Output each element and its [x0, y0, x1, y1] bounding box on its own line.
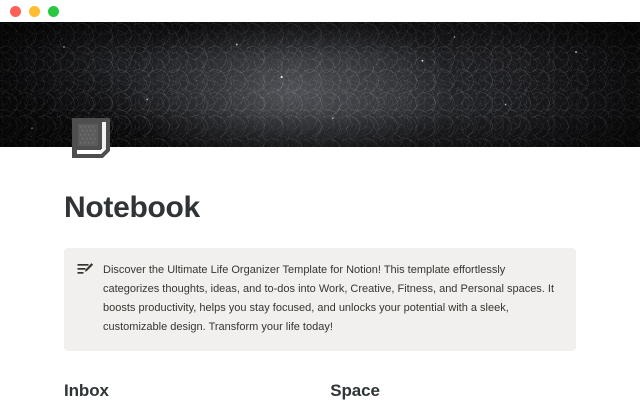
callout-block[interactable]: Discover the Ultimate Life Organizer Tem…	[64, 248, 576, 351]
minimize-button[interactable]	[29, 6, 40, 17]
callout-text: Discover the Ultimate Life Organizer Tem…	[103, 261, 562, 337]
column-inbox: Inbox Notes	[64, 381, 310, 400]
column-list: Inbox Notes Space	[64, 381, 576, 400]
inbox-heading[interactable]: Inbox	[64, 381, 310, 400]
window-titlebar	[0, 0, 640, 22]
space-heading[interactable]: Space	[330, 381, 576, 400]
app-window: Notebook Discover the Ultimate Life Orga…	[0, 0, 640, 400]
maximize-button[interactable]	[48, 6, 59, 17]
page-title[interactable]: Notebook	[0, 191, 640, 224]
notebook-page-icon[interactable]	[68, 116, 114, 162]
close-button[interactable]	[10, 6, 21, 17]
column-space: Space Work	[330, 381, 576, 400]
page-content: Notebook Discover the Ultimate Life Orga…	[0, 147, 640, 400]
edit-lines-pencil-icon	[77, 262, 94, 279]
